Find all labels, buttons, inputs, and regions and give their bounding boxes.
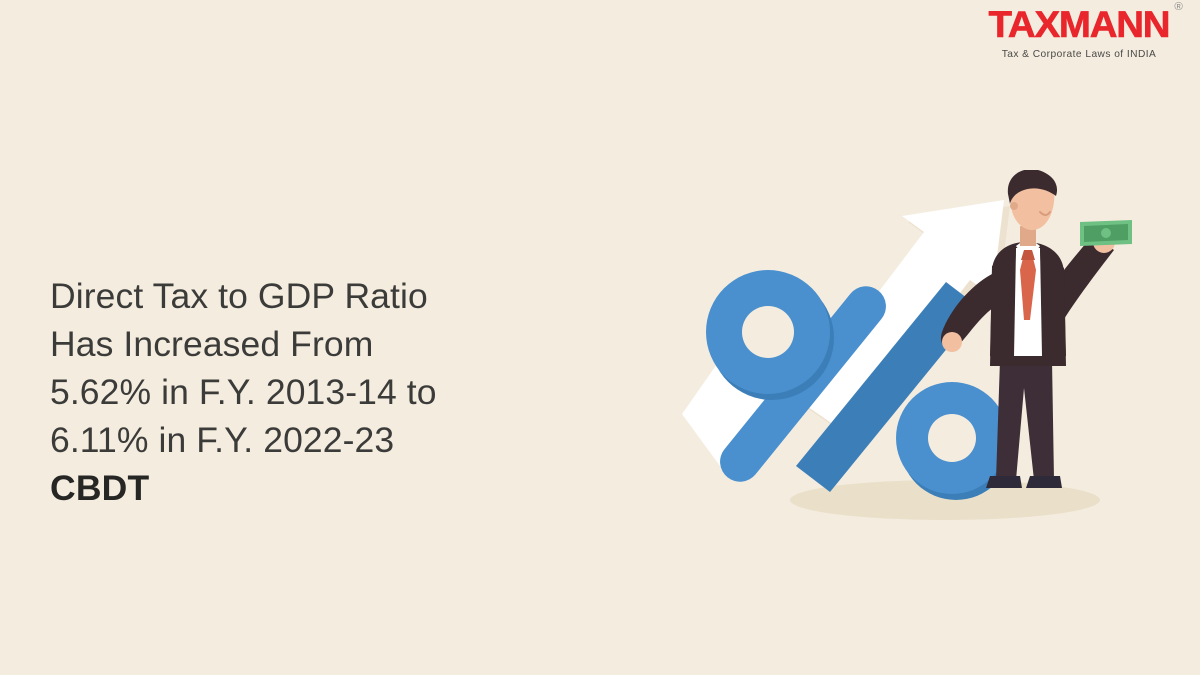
- green-banknote-icon: [1080, 220, 1132, 246]
- brand-wordmark-text: TAXMANN: [989, 4, 1170, 45]
- illustration-svg: [680, 170, 1180, 560]
- headline-line-1: Direct Tax to GDP Ratio: [50, 272, 610, 320]
- shoe-right: [1026, 476, 1062, 488]
- trousers: [996, 360, 1054, 480]
- headline-source: CBDT: [50, 464, 610, 512]
- registered-trademark-icon: ®: [1174, 2, 1182, 13]
- ear: [1010, 202, 1018, 210]
- percent-ring-bottom-hole: [928, 414, 976, 462]
- poster-canvas: TAXMANN® Tax & Corporate Laws of INDIA D…: [0, 0, 1200, 675]
- headline-line-4: 6.11% in F.Y. 2022-23: [50, 416, 610, 464]
- headline-line-3: 5.62% in F.Y. 2013-14 to: [50, 368, 610, 416]
- percent-ring-top-hole: [742, 306, 794, 358]
- brand-logo: TAXMANN® Tax & Corporate Laws of INDIA: [974, 6, 1184, 60]
- brand-wordmark: TAXMANN®: [989, 6, 1170, 43]
- headline-block: Direct Tax to GDP Ratio Has Increased Fr…: [50, 272, 610, 512]
- headline-line-2: Has Increased From: [50, 320, 610, 368]
- brand-tagline: Tax & Corporate Laws of INDIA: [974, 50, 1184, 60]
- shoe-left: [986, 476, 1022, 488]
- banknote-seal: [1101, 228, 1111, 238]
- hero-illustration: [680, 170, 1180, 560]
- hip-hand: [942, 332, 962, 352]
